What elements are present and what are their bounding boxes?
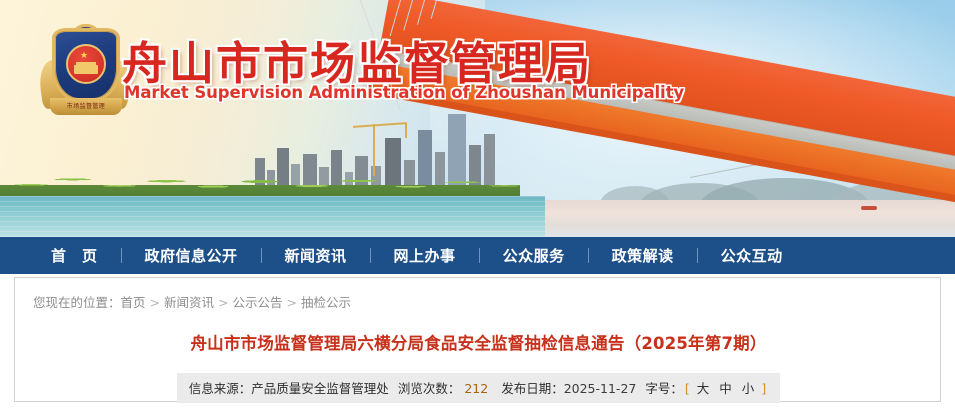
meta-source-label: 信息来源：: [189, 381, 252, 396]
meta-date: 发布日期：2025-11-27: [501, 378, 645, 397]
meta-views-value: 212: [460, 381, 492, 396]
fontsize-medium-button[interactable]: 中: [714, 381, 737, 396]
breadcrumb-separator: >: [214, 295, 232, 310]
meta-views: 浏览次数：212: [398, 378, 501, 397]
content-panel: 您现在的位置：首页>新闻资讯>公示公告>抽检公示 舟山市市场监督管理局六横分局食…: [14, 277, 941, 402]
breadcrumb: 您现在的位置：首页>新闻资讯>公示公告>抽检公示: [33, 292, 351, 311]
nav-item-home[interactable]: 首 页: [28, 245, 121, 266]
fontsize-large-button[interactable]: 大: [692, 381, 715, 396]
breadcrumb-item-news[interactable]: 新闻资讯: [164, 295, 214, 310]
government-emblem: ★ 市场监督管理: [38, 24, 134, 124]
main-navigation: 首 页 政府信息公开 新闻资讯 网上办事 公众服务 政策解读 公众互动: [0, 237, 955, 274]
meta-date-value: 2025-11-27: [564, 381, 637, 396]
breadcrumb-separator: >: [146, 295, 164, 310]
bracket-open-icon: [: [683, 381, 692, 396]
meta-date-label: 发布日期：: [501, 381, 564, 396]
page-root: ★ 市场监督管理 舟山市市场监督管理局 Market Supervision A…: [0, 0, 955, 409]
fontsize-small-button[interactable]: 小: [737, 381, 760, 396]
emblem-ribbon-text: 市场监督管理: [50, 98, 122, 115]
nav-item-online-services[interactable]: 网上办事: [371, 245, 479, 266]
bracket-close-icon: ]: [759, 381, 768, 396]
meta-fontsize-label: 字号：: [645, 381, 683, 396]
site-banner: ★ 市场监督管理 舟山市市场监督管理局 Market Supervision A…: [0, 0, 955, 237]
breadcrumb-item-sampling[interactable]: 抽检公示: [301, 295, 351, 310]
emblem-tiananmen-icon: [74, 65, 98, 74]
site-title-en: Market Supervision Administration of Zho…: [124, 83, 684, 102]
nav-item-interaction[interactable]: 公众互动: [698, 245, 806, 266]
meta-source: 信息来源：产品质量安全监督管理处: [189, 378, 398, 397]
article-title: 舟山市市场监督管理局六横分局食品安全监督抽检信息通告（2025年第7期）: [15, 330, 942, 354]
breadcrumb-item-home[interactable]: 首页: [121, 295, 146, 310]
breadcrumb-prefix: 您现在的位置：: [33, 295, 121, 310]
breadcrumb-separator: >: [283, 295, 301, 310]
meta-fontsize: 字号：[大中小]: [645, 378, 768, 397]
nav-item-gov-info[interactable]: 政府信息公开: [122, 245, 261, 266]
emblem-star-icon: ★: [80, 51, 88, 60]
meta-views-label: 浏览次数：: [398, 381, 461, 396]
nav-item-public-services[interactable]: 公众服务: [480, 245, 588, 266]
breadcrumb-item-announcements[interactable]: 公示公告: [233, 295, 283, 310]
meta-source-value: 产品质量安全监督管理处: [251, 381, 389, 396]
nav-item-policy[interactable]: 政策解读: [589, 245, 697, 266]
nav-item-news[interactable]: 新闻资讯: [262, 245, 370, 266]
article-meta-bar: 信息来源：产品质量安全监督管理处浏览次数：212发布日期：2025-11-27字…: [15, 373, 942, 403]
